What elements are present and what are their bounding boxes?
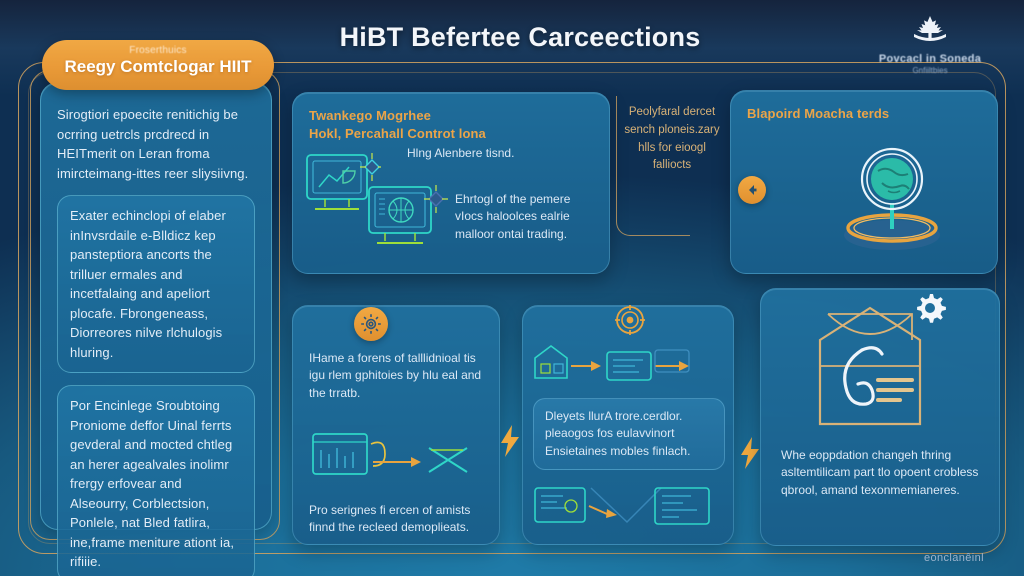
card-middle-left-text-1: IHame a forens of talllidnioal tis igu r… [309,350,483,402]
gear-sun-icon[interactable] [354,307,388,341]
brand-line-1: Povcacl in Soneda [860,53,1000,65]
device-pair-icon [531,478,727,545]
card-middle-middle[interactable]: Dleyets llurA trore.cerdlor. pleaogos fo… [522,305,734,545]
left-panel-card: Sirogtiori epoecite renitichig be ocrrin… [40,82,272,530]
card-middle-middle-text-1: Dleyets llurA trore.cerdlor. pleaogos fo… [545,408,713,460]
left-arrow-badge-icon[interactable] [738,176,766,204]
target-icon[interactable] [614,304,646,336]
card-bottom-right-text-1: Whe eoppdation changeh thring asltemtili… [781,447,983,499]
gold-column-text: Peolyfaral dercet sench ploneis.zary hll… [622,104,722,175]
card-top-middle[interactable]: Twankego Mogrhee Hokl, Percahall Controt… [292,92,610,274]
card-top-middle-text-2: Ehrtogl of the pemere vIocs haloolces ea… [455,191,601,243]
brand-line-2: Gnfiiltbies [860,66,1000,75]
page-title: HiBT Befertee Carceections [300,22,740,53]
flow-diagram-icon [529,334,721,399]
lightning-bolt-icon [498,424,522,463]
monitor-globe-icon [365,179,451,262]
section-badge-label: Reegy Comtclogar HIIT [42,57,274,77]
left-panel-intro: Sirogtiori epoecite renitichig be ocrrin… [57,105,255,183]
card-top-middle-text-1: Hlng Alenbere tisnd. [407,145,597,162]
window-link-icon [311,426,481,489]
brand-logo: Povcacl in Soneda Gnfiiltbies [860,14,1000,75]
maple-crest-icon [860,14,1000,49]
gear-icon[interactable] [912,290,948,331]
card-top-middle-heading: Twankego Mogrhee Hokl, Percahall Controt… [309,107,593,142]
section-badge[interactable]: Froserthuics Reegy Comtclogar HIIT [42,40,274,90]
globe-hologram-icon [830,135,954,258]
card-middle-left[interactable]: IHame a forens of talllidnioal tis igu r… [292,305,500,545]
section-badge-eyebrow: Froserthuics [42,45,274,56]
card-top-right-heading: Blapoird Moacha terds [747,105,981,123]
left-panel-block-1[interactable]: Exater echinclopi of elaber inInvsrdaile… [57,195,255,373]
left-panel-block-1-text: Exater echinclopi of elaber inInvsrdaile… [70,206,242,362]
card-middle-left-text-2: Pro serignes fi ercen of amists finnd th… [309,502,491,537]
left-panel-block-2[interactable]: Por Encinlege Sroubtoing Proniome deffor… [57,385,255,576]
left-panel-block-2-text: Por Encinlege Sroubtoing Proniome deffor… [70,396,242,572]
footer-text: eonclanêinl [924,552,984,564]
card-middle-middle-panel: Dleyets llurA trore.cerdlor. pleaogos fo… [533,398,725,470]
lightning-bolt-icon [738,436,762,475]
